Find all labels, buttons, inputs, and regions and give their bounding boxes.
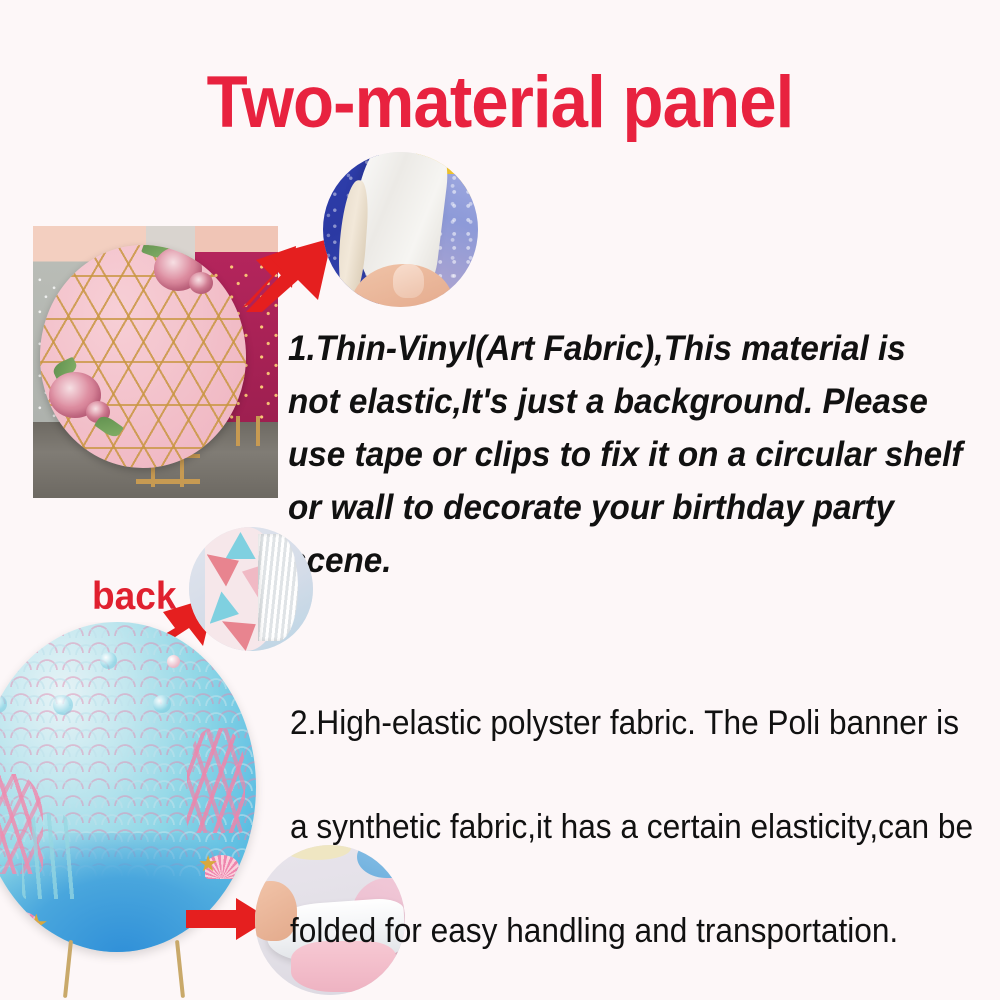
infographic-page: Two-material panel xyxy=(0,0,1000,1000)
bubble xyxy=(153,695,171,713)
mermaid-scale-round-backdrop-photo xyxy=(0,622,278,1000)
backdrop-stand-base xyxy=(136,479,200,484)
arrow-to-vinyl-inset xyxy=(240,232,336,312)
peony-flower-top-small xyxy=(189,272,213,294)
pink-round-panel xyxy=(40,245,246,468)
description-line: 2.High-elastic polyster fabric. The Poli… xyxy=(290,697,950,749)
backdrop-stand-leg-right xyxy=(256,416,260,446)
description-thin-vinyl: 1.Thin-Vinyl(Art Fabric),This material i… xyxy=(288,322,964,587)
stand-leg xyxy=(175,940,185,998)
bubble xyxy=(167,655,180,668)
coral-right xyxy=(187,728,245,833)
fabric-triangle xyxy=(225,532,256,559)
seaweed-center xyxy=(22,813,78,899)
mermaid-backdrop-stand xyxy=(66,940,184,1000)
description-line: folded for easy handling and transportat… xyxy=(290,905,950,957)
hand-holding-vinyl-sheet-inset xyxy=(323,152,478,307)
bubble xyxy=(100,652,117,669)
thumbnail xyxy=(393,264,424,298)
description-line: a synthetic fabric,it has a certain elas… xyxy=(290,801,950,853)
fabric-triangle xyxy=(210,591,239,623)
bubble xyxy=(53,695,73,715)
description-high-elastic-polyster: 2.High-elastic polyster fabric. The Poli… xyxy=(290,645,950,1000)
page-title: Two-material panel xyxy=(40,66,960,139)
